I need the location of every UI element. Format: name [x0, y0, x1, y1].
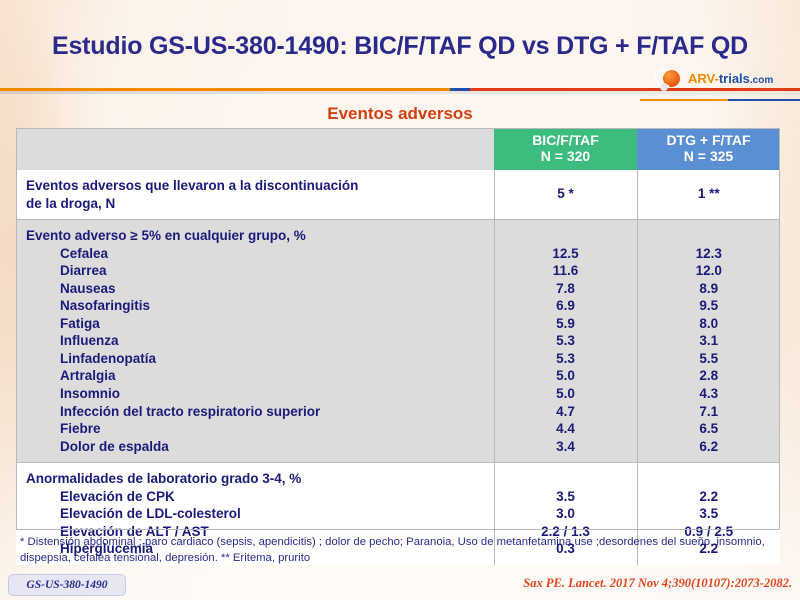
- discontinuation-value-a-text: 5 *: [499, 177, 633, 203]
- row-value-a: 5.9: [499, 315, 633, 333]
- header-divider-secondary: [640, 99, 800, 102]
- discontinuation-label-line1: Eventos adversos que llevaron a la disco…: [26, 177, 486, 195]
- row-name: Linfadenopatía: [60, 350, 486, 368]
- footnote: * Distensión abdominal ; paro cardiaco (…: [20, 534, 780, 566]
- study-id-badge: GS-US-380-1490: [8, 574, 126, 596]
- logo-text-arv: ARV-: [688, 71, 719, 86]
- row-value-a: 3.0: [499, 505, 633, 523]
- row-name: Diarrea: [60, 262, 486, 280]
- citation-reference: Sax PE. Lancet. 2017 Nov 4;390(10107):20…: [523, 576, 792, 591]
- row-name: Cefalea: [60, 245, 486, 263]
- logo-wordmark: ARV-trials.com: [688, 72, 773, 86]
- header-col-dtg-f-taf: DTG + F/TAF N = 325: [637, 128, 780, 170]
- discontinuation-value-a: 5 *: [494, 170, 637, 220]
- adverse-events-value-list-a: .12.511.67.86.95.95.35.35.05.04.74.43.4: [499, 227, 633, 455]
- adverse-events-table-wrap: BIC/F/TAF N = 320 DTG + F/TAF N = 325 Ev…: [16, 128, 780, 565]
- row-value-b: 8.0: [642, 315, 777, 333]
- row-name: Fatiga: [60, 315, 486, 333]
- page-title: Estudio GS-US-380-1490: BIC/F/TAF QD vs …: [0, 32, 800, 61]
- row-value-a: 7.8: [499, 280, 633, 298]
- logo-drop-shape: [660, 83, 668, 91]
- row-value-b: 2.2: [642, 488, 777, 506]
- discontinuation-label: Eventos adversos que llevaron a la disco…: [16, 170, 494, 220]
- adverse-events-values-b: .12.312.08.99.58.03.15.52.84.37.16.56.2: [637, 220, 780, 463]
- adverse-events-value-list-b: .12.312.08.99.58.03.15.52.84.37.16.56.2: [642, 227, 777, 455]
- row-value-a: 5.3: [499, 350, 633, 368]
- row-value-a: 4.7: [499, 403, 633, 421]
- row-value-a: 4.4: [499, 420, 633, 438]
- adverse-events-table: BIC/F/TAF N = 320 DTG + F/TAF N = 325 Ev…: [16, 128, 780, 565]
- row-name: Influenza: [60, 332, 486, 350]
- header-col-a-line2: N = 320: [494, 149, 637, 165]
- row-name: Elevación de CPK: [60, 488, 486, 506]
- row-value-a: 3.5: [499, 488, 633, 506]
- row-value-b: 8.9: [642, 280, 777, 298]
- row-value-b: 2.8: [642, 367, 777, 385]
- row-value-b: 3.1: [642, 332, 777, 350]
- slide: Estudio GS-US-380-1490: BIC/F/TAF QD vs …: [0, 0, 800, 600]
- table-header-row: BIC/F/TAF N = 320 DTG + F/TAF N = 325: [16, 128, 780, 170]
- table-row-adverse-events: Evento adverso ≥ 5% en cualquier grupo, …: [16, 220, 780, 463]
- header-col-b-line1: DTG + F/TAF: [637, 133, 780, 149]
- row-name: Insomnio: [60, 385, 486, 403]
- row-value-b: 5.5: [642, 350, 777, 368]
- discontinuation-value-b: 1 **: [637, 170, 780, 220]
- row-value-b: 9.5: [642, 297, 777, 315]
- discontinuation-label-line2: de la droga, N: [26, 195, 486, 213]
- logo-text-com: .com: [750, 75, 773, 86]
- divider2-segment-blue: [728, 99, 800, 101]
- row-value-a: 3.4: [499, 438, 633, 456]
- row-name: Nasofaringitis: [60, 297, 486, 315]
- header-blank-cell: [16, 128, 494, 170]
- row-value-a: 5.0: [499, 385, 633, 403]
- pill-cup-icon: [655, 68, 685, 90]
- logo-text-trials: trials: [719, 71, 750, 86]
- row-name: Elevación de LDL-colesterol: [60, 505, 486, 523]
- adverse-events-name-list: CefaleaDiarreaNauseasNasofaringitisFatig…: [26, 245, 486, 456]
- row-value-b: 6.5: [642, 420, 777, 438]
- row-value-a: 5.3: [499, 332, 633, 350]
- row-value-b: 12.3: [642, 245, 777, 263]
- row-value-b: 4.3: [642, 385, 777, 403]
- adverse-events-labels: Evento adverso ≥ 5% en cualquier grupo, …: [16, 220, 494, 463]
- row-name: Fiebre: [60, 420, 486, 438]
- row-name: Nauseas: [60, 280, 486, 298]
- adverse-events-group-label: Evento adverso ≥ 5% en cualquier grupo, …: [26, 227, 486, 245]
- header-col-bic-f-taf: BIC/F/TAF N = 320: [494, 128, 637, 170]
- row-value-a: 6.9: [499, 297, 633, 315]
- row-name: Artralgia: [60, 367, 486, 385]
- row-value-b: 7.1: [642, 403, 777, 421]
- row-name: Infección del tracto respiratorio superi…: [60, 403, 486, 421]
- header-col-b-line2: N = 325: [637, 149, 780, 165]
- row-value-a: 11.6: [499, 262, 633, 280]
- adverse-events-values-a: .12.511.67.86.95.95.35.35.05.04.74.43.4: [494, 220, 637, 463]
- section-subtitle: Eventos adversos: [0, 104, 800, 124]
- header-col-a-line1: BIC/F/TAF: [494, 133, 637, 149]
- lab-abnormalities-group-label: Anormalidades de laboratorio grado 3-4, …: [26, 470, 486, 488]
- divider-shadow: [0, 91, 800, 94]
- arv-trials-logo: ARV-trials.com: [655, 68, 773, 90]
- row-value-a: 12.5: [499, 245, 633, 263]
- row-name: Dolor de espalda: [60, 438, 486, 456]
- row-value-b: 3.5: [642, 505, 777, 523]
- table-row-discontinuation: Eventos adversos que llevaron a la disco…: [16, 170, 780, 220]
- row-value-a: 5.0: [499, 367, 633, 385]
- divider2-segment-orange: [640, 99, 728, 101]
- discontinuation-value-b-text: 1 **: [642, 177, 777, 203]
- row-value-b: 12.0: [642, 262, 777, 280]
- row-value-b: 6.2: [642, 438, 777, 456]
